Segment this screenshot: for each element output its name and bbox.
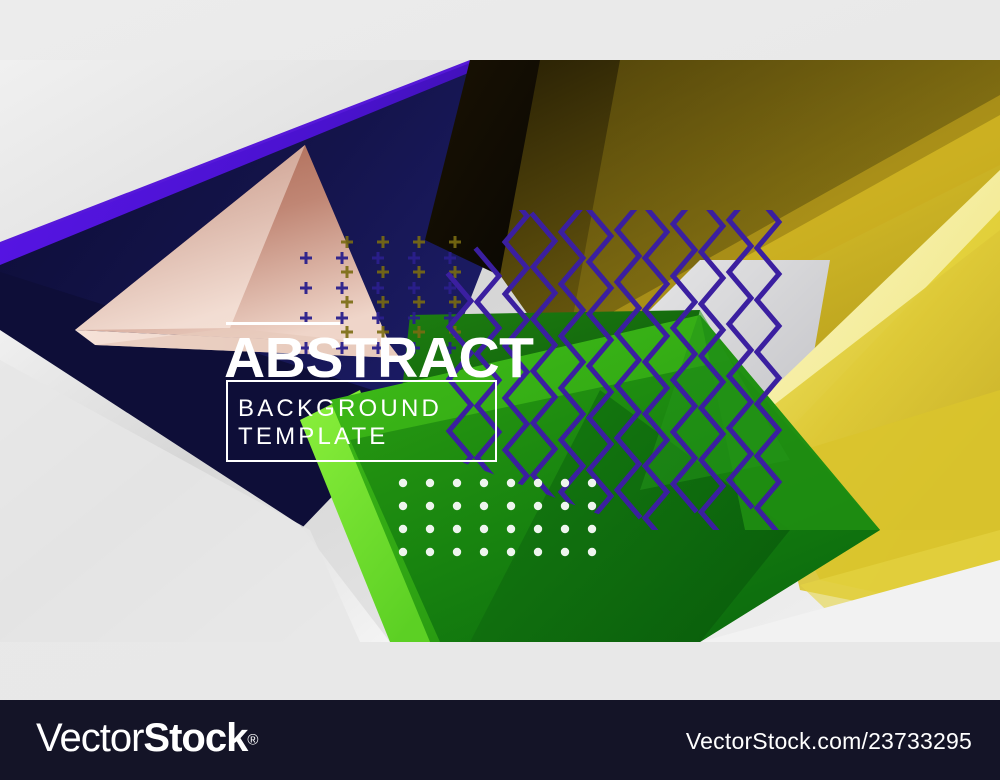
vectorstock-logo: VectorStock® [36,718,258,758]
logo-text-light: Vector [36,716,143,760]
registered-mark-icon: ® [247,732,258,749]
poster-canvas: ABSTRACT BACKGROUND TEMPLATE VectorStock… [0,0,1000,780]
abstract-artwork: ABSTRACT BACKGROUND TEMPLATE [0,60,1000,642]
artwork-svg [0,60,1000,642]
watermark-url: VectorStock.com/23733295 [686,728,972,755]
logo-text-bold: Stock [143,716,247,760]
